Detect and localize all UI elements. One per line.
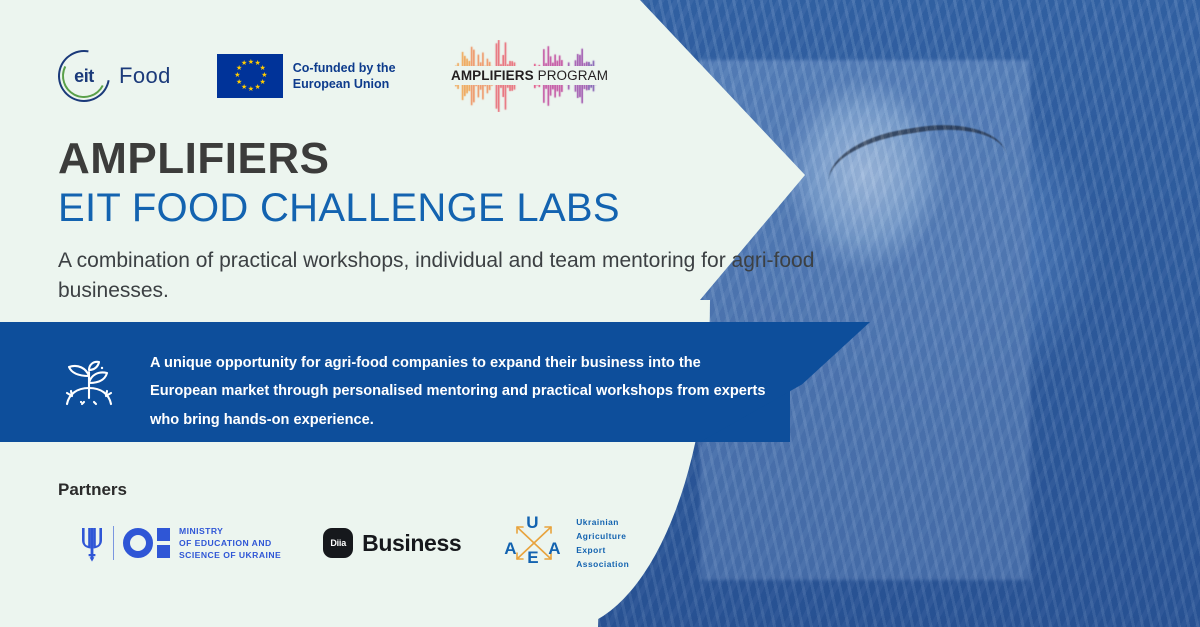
eu-star-icon: ★ (248, 88, 252, 92)
logo-row: eit Food ★★★★★★★★★★★★ Co-funded by the E… (58, 42, 617, 110)
program-light: PROGRAM (534, 68, 608, 83)
ministry-squares (157, 528, 170, 558)
eu-star-icon: ★ (241, 86, 245, 90)
uaea-letter-u: U (526, 513, 538, 533)
diia-business-label: Business (362, 530, 461, 557)
eu-star-icon: ★ (255, 62, 259, 66)
highlight-band-text: A unique opportunity for agri-food compa… (150, 349, 770, 434)
european-union-flag-icon: ★★★★★★★★★★★★ (217, 54, 283, 98)
ministry-emblem-icon (123, 528, 170, 558)
amplifiers-program-logo: AMPLIFIERS PROGRAM (442, 40, 617, 112)
ukrainian-agriculture-export-association-logo: U A A E Ukrainian Agriculture Export Ass… (503, 515, 629, 571)
uaea-letter-a-right: A (548, 539, 560, 559)
ministry-label: MINISTRY OF EDUCATION AND SCIENCE OF UKR… (179, 525, 281, 562)
eu-star-icon: ★ (248, 61, 252, 65)
logo-divider (113, 526, 114, 560)
ukraine-trident-icon (80, 524, 104, 562)
amplifiers-program-label: AMPLIFIERS PROGRAM (446, 68, 614, 83)
diia-badge-icon: Diia (323, 528, 353, 558)
ministry-of-education-logo: MINISTRY OF EDUCATION AND SCIENCE OF UKR… (80, 524, 281, 562)
partners-row: MINISTRY OF EDUCATION AND SCIENCE OF UKR… (80, 512, 629, 574)
eit-food-logo: eit Food (58, 50, 171, 102)
eu-star-icon: ★ (234, 74, 238, 78)
intro-text: A combination of practical workshops, in… (58, 246, 848, 306)
sprout-plant-icon (58, 352, 120, 415)
eit-food-label: Food (119, 63, 171, 89)
diia-business-logo: Diia Business (323, 528, 461, 558)
eit-circle-icon: eit (58, 50, 110, 102)
partners-heading: Partners (58, 480, 127, 500)
uaea-monogram-icon: U A A E (503, 515, 565, 571)
eu-star-icon: ★ (255, 86, 259, 90)
eu-star-icon: ★ (236, 81, 240, 85)
page-title: AMPLIFIERS (58, 134, 329, 184)
eu-cofunding-label: Co-funded by the European Union (293, 60, 396, 92)
eu-star-icon: ★ (236, 67, 240, 71)
eu-star-icon: ★ (259, 67, 263, 71)
eu-star-icon: ★ (261, 74, 265, 78)
eu-cofunding-logo: ★★★★★★★★★★★★ Co-funded by the European U… (217, 54, 396, 98)
page-subtitle-heading: EIT FOOD CHALLENGE LABS (58, 186, 620, 231)
uaea-letter-e: E (527, 548, 538, 568)
promo-banner: eit Food ★★★★★★★★★★★★ Co-funded by the E… (0, 0, 1200, 627)
amplifiers-bold: AMPLIFIERS (451, 68, 534, 83)
eit-mark-label: eit (58, 50, 110, 102)
eu-star-icon: ★ (241, 62, 245, 66)
uaea-letter-a-left: A (504, 539, 516, 559)
ministry-ring (123, 528, 153, 558)
uaea-label: Ukrainian Agriculture Export Association (576, 515, 629, 571)
